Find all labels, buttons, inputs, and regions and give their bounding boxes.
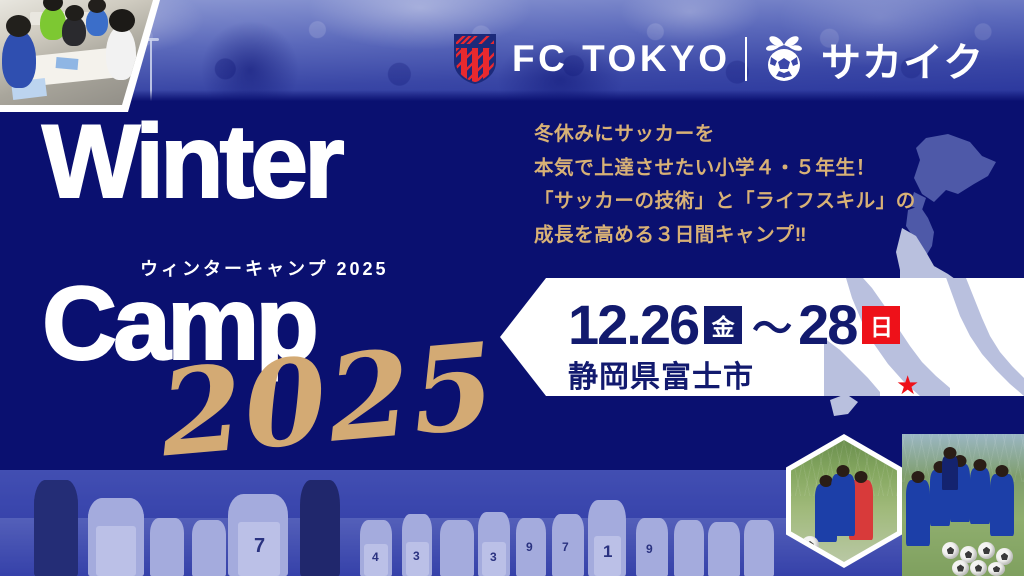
weekday-badge-sunday: 日 — [862, 306, 900, 344]
sakaiku-wordmark: サカイク — [821, 30, 984, 88]
copy-line-2: 本気で上達させたい小学４・５年生！ — [534, 152, 944, 186]
event-location: 静岡県富士市 — [568, 352, 754, 396]
logo-row: FC TOKYO サカイク — [452, 30, 984, 88]
copy-line-4: 成長を高める３日間キャンプ‼ — [534, 219, 944, 253]
copy-line-3: 「サッカーの技術」と「ライフスキル」の — [534, 185, 944, 219]
photo-kids-dribbling — [791, 440, 897, 562]
banner-stage: FC TOKYO サカイク Winter ウィンターキャンプ 2025 Camp… — [0, 0, 1024, 576]
weekday-badge-friday: 金 — [704, 306, 742, 344]
date-location-banner: 12.26 金 〜 28 日 静岡県富士市 — [500, 278, 1024, 396]
brush-year-2025: 2025 — [155, 316, 502, 484]
date-row: 12.26 金 〜 28 日 — [568, 292, 902, 357]
date-end-day: 28 — [798, 292, 856, 357]
map-marker-star: ★ — [896, 372, 919, 398]
photo-classroom-kids — [0, 0, 153, 105]
copy-line-1: 冬休みにサッカーを — [534, 118, 944, 152]
headline-block: Winter — [42, 118, 341, 207]
date-range-tilde: 〜 — [748, 296, 794, 354]
sakaiku-soccerball-sprout-icon — [761, 34, 807, 84]
fc-tokyo-crest-icon — [452, 32, 498, 86]
logo-divider — [745, 37, 748, 81]
headline-line-1: Winter — [42, 118, 341, 207]
fc-tokyo-wordmark: FC TOKYO — [512, 38, 731, 80]
date-month-day: 12.26 — [568, 292, 698, 357]
promo-copy-block: 冬休みにサッカーを 本気で上達させたい小学４・５年生！ 「サッカーの技術」と「ラ… — [534, 118, 944, 252]
photo-kids-with-balls — [902, 434, 1024, 576]
